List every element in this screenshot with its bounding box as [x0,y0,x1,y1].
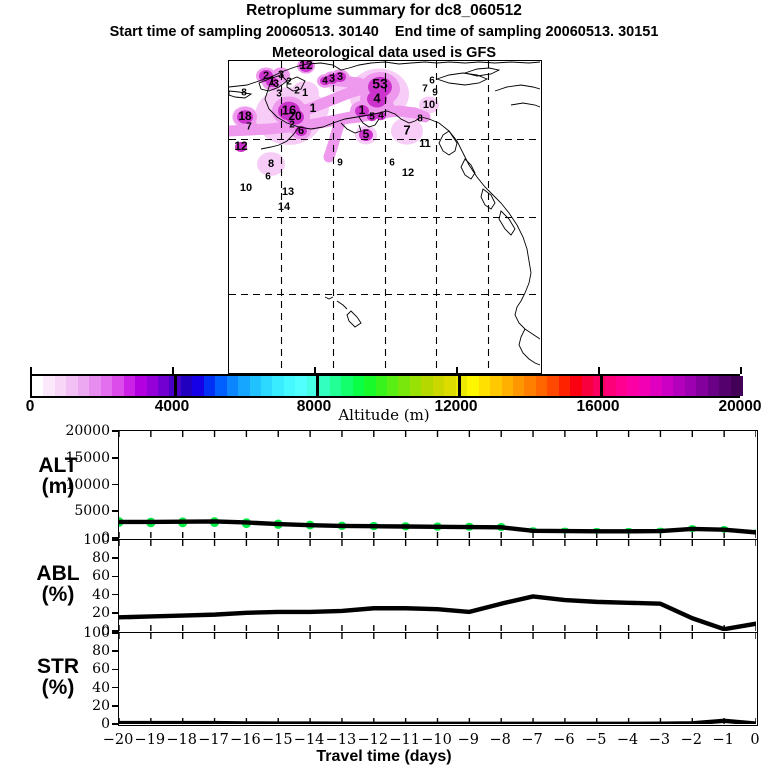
y-axis-tick [112,594,119,596]
colorbar-segment [387,376,399,396]
colorbar-segment [101,376,113,396]
colorbar-segment [272,376,284,396]
colorbar-segment [147,376,159,396]
page-title: Retroplume summary for dc8_060512 [0,2,768,20]
colorbar-tick [598,367,600,374]
x-axis-tick-label: −19 [135,732,166,748]
y-axis-label: 80 [92,643,110,659]
map-day-label: 10 [240,182,252,194]
colorbar-segment [32,376,44,396]
y-axis-label: 20 [92,698,110,714]
colorbar-divider [600,376,603,396]
y-axis-tick [112,557,119,559]
colorbar-segment [135,376,147,396]
colorbar-segment [490,376,502,396]
colorbar-segment [650,376,662,396]
colorbar-segment [524,376,536,396]
x-axis-tick-label: −12 [357,732,388,748]
y-axis-label: 100 [83,625,110,641]
y-axis-label: 60 [92,568,110,584]
colorbar-segment [112,376,124,396]
map-day-label: 8 [268,158,274,170]
map-day-label: 12 [402,167,414,179]
colorbar-segment [421,376,433,396]
colorbar-tick [30,367,32,374]
y-axis-label: 40 [92,680,110,696]
x-axis-tick-label: −20 [103,732,134,748]
colorbar-divider [458,376,461,396]
colorbar-segment [616,376,628,396]
map-day-label: 1 [359,103,366,117]
timeseries-plot-area: 05000100001500020000 020406080100 020406… [118,430,758,726]
colorbar-segment [536,376,548,396]
colorbar-segment [318,376,330,396]
colorbar-segment [181,376,193,396]
colorbar-segment [685,376,697,396]
x-axis-tick-label: −16 [230,732,261,748]
y-axis-tick [112,687,119,689]
x-axis-tick-label: 0 [750,732,759,748]
colorbar-tick [740,367,742,374]
colorbar-segment [513,376,525,396]
map-day-label: 12 [234,139,248,153]
y-axis-tick [112,632,119,634]
colorbar-segment [502,376,514,396]
colorbar-tick [314,367,316,374]
map-day-label: 3 [329,73,335,85]
map-day-label: 7 [403,122,410,137]
colorbar-segment [158,376,170,396]
y-axis-label: 5000 [74,503,110,519]
colorbar-segment [639,376,651,396]
panel-alt: 05000100001500020000 [118,430,758,540]
colorbar-segment [605,376,617,396]
colorbar-segment [444,376,456,396]
colorbar-segment [662,376,674,396]
colorbar-segment [582,376,594,396]
x-axis-tick-label: −13 [326,732,357,748]
xaxis-title: Travel time (days) [0,748,768,766]
colorbar-segment [192,376,204,396]
map-day-label: 9 [432,88,438,99]
map-day-label: 10 [423,99,435,111]
colorbar-segment [124,376,136,396]
x-axis-tick-label: −5 [585,732,606,748]
map-day-label: 4 [373,90,381,105]
x-axis-tick-label: −17 [198,732,229,748]
colorbar-segment [295,376,307,396]
series-line [119,596,756,629]
y-axis-tick [112,484,119,486]
map-day-label: 1 [302,87,308,99]
colorbar-segment [43,376,55,396]
colorbar-segment [467,376,479,396]
y-axis-tick [112,650,119,652]
map-day-label: 6 [429,76,435,87]
x-axis-tick-label: −3 [649,732,670,748]
y-axis-tick [112,669,119,671]
map-day-label: 6 [389,158,395,169]
y-axis-tick [112,430,119,432]
y-axis-label: 10000 [65,477,110,493]
y-axis-tick [112,457,119,459]
colorbar-segment [479,376,491,396]
map-day-label: 3 [337,71,343,83]
x-axis-tick-label: −8 [490,732,511,748]
colorbar-segment [570,376,582,396]
x-axis-tick-label: −14 [294,732,325,748]
x-axis-tick-label: −15 [262,732,293,748]
y-axis-tick [112,723,119,725]
y-axis-label: 80 [92,550,110,566]
y-axis-label: 40 [92,587,110,603]
colorbar-divider [316,376,319,396]
colorbar-segment [66,376,78,396]
colorbar-segment [559,376,571,396]
colorbar-segment [238,376,250,396]
colorbar-segment [330,376,342,396]
colorbar-segment [250,376,262,396]
colorbar-segment [719,376,731,396]
colorbar-segment [341,376,353,396]
map-day-label: 7 [422,84,428,95]
x-axis-tick-label: −1 [712,732,733,748]
colorbar-segment [398,376,410,396]
colorbar-segment [353,376,365,396]
y-axis-label: 60 [92,661,110,677]
colorbar-segment [708,376,720,396]
x-axis-tick-label: −4 [617,732,638,748]
colorbar-segment [89,376,101,396]
map-contents: 2131232433536798321410161201541887265711… [229,61,540,372]
map-day-label: 7 [246,122,252,133]
retroplume-map: 2131232433536798321410161201541887265711… [228,60,542,374]
y-axis-tick [112,576,119,578]
colorbar-segment [547,376,559,396]
colorbar-tick [456,367,458,374]
y-axis-label: 20000 [65,423,110,439]
x-axis-tick-label: −10 [421,732,452,748]
colorbar-segment [55,376,67,396]
colorbar-segment [261,376,273,396]
colorbar-segment [673,376,685,396]
colorbar-segment [627,376,639,396]
map-day-label: 14 [278,201,291,213]
abl-series [119,540,756,631]
y-axis-label: 20 [92,605,110,621]
colorbar-segment [410,376,422,396]
colorbar-segment [227,376,239,396]
map-day-label: 9 [337,158,343,169]
meteorology-note: Meteorological data used is GFS [0,45,768,61]
colorbar-segment [376,376,388,396]
y-axis-label: 0 [101,716,110,732]
map-day-label: 13 [282,186,294,198]
colorbar-segment [731,376,743,396]
x-axis-tick-label: −2 [681,732,702,748]
map-day-label: 1 [310,101,317,115]
altitude-colorbar: 040008000120001600020000 [30,374,740,398]
y-axis-tick [112,705,119,707]
panel-abl: 020406080100 [118,540,758,633]
colorbar-segment [204,376,216,396]
colorbar-segment [284,376,296,396]
colorbar-divider [174,376,177,396]
y-axis-label: 15000 [65,450,110,466]
sampling-times: Start time of sampling 20060513. 30140 E… [0,24,768,40]
y-axis-label: 100 [83,532,110,548]
x-axis-tick-label: −7 [521,732,542,748]
colorbar-segment [215,376,227,396]
x-axis-tick-label: −6 [553,732,574,748]
colorbar-box [30,374,740,398]
x-axis-tick-label: −9 [458,732,479,748]
y-axis-tick [112,612,119,614]
colorbar-title: Altitude (m) [0,406,768,424]
str-series [119,633,756,724]
map-day-label: 12 [299,61,313,72]
map-day-label: 5 [369,112,375,123]
x-axis-tick-label: −11 [389,732,420,748]
map-day-label: 6 [265,172,271,183]
colorbar-segment [78,376,90,396]
map-day-label: 2 [294,86,300,97]
y-axis-tick [112,510,119,512]
colorbar-segment [696,376,708,396]
x-axis-tick-label: −18 [166,732,197,748]
y-axis-tick [112,539,119,541]
colorbar-segment [364,376,376,396]
alt-series [119,431,756,538]
colorbar-segment [433,376,445,396]
map-day-label: 4 [322,76,328,87]
colorbar-tick [172,367,174,374]
panel-str: 020406080100 [118,633,758,726]
